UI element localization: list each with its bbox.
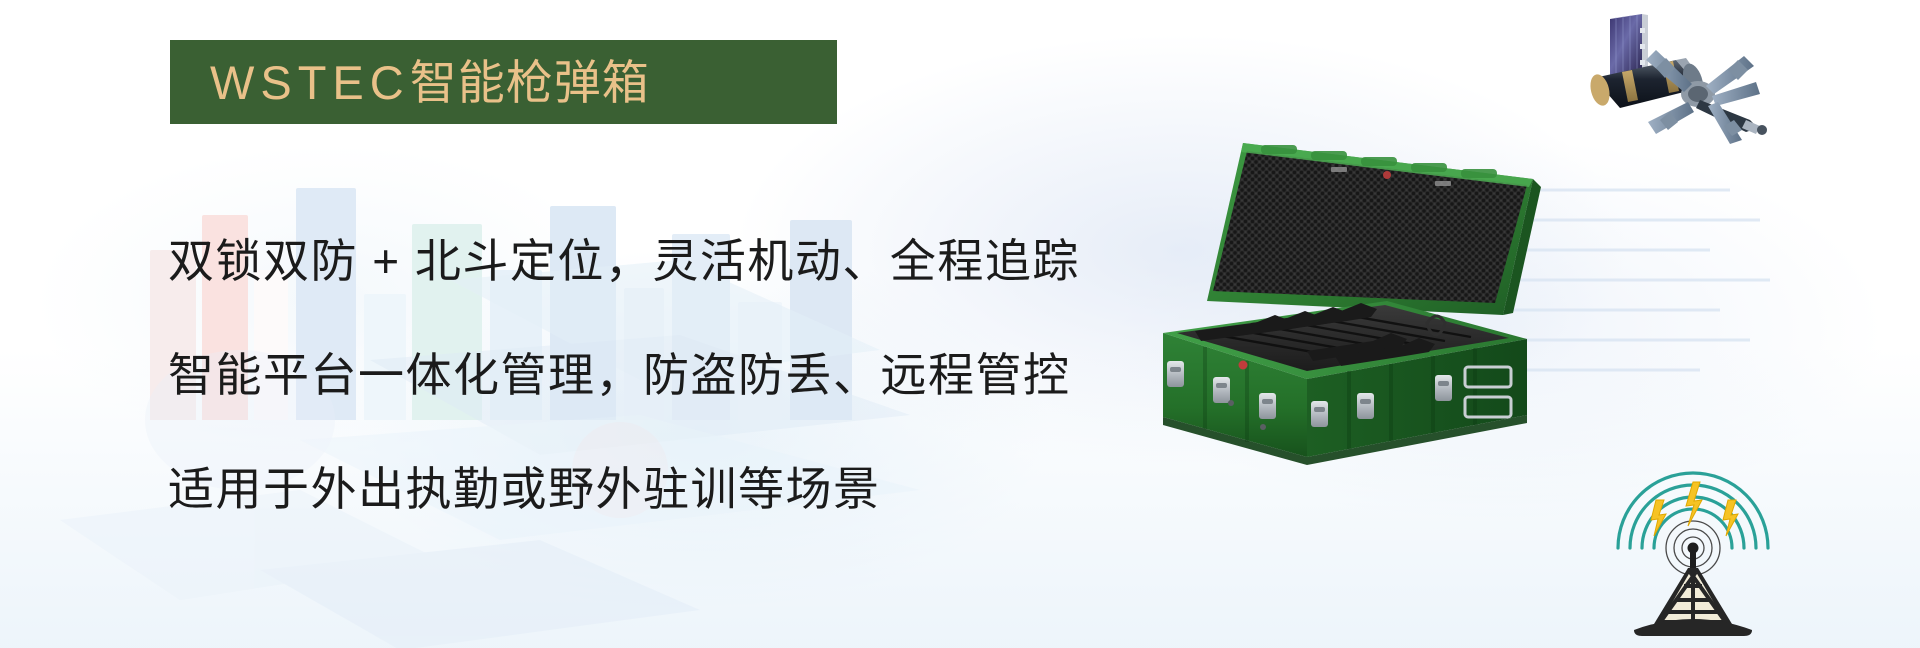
feature-list: 双锁双防 + 北斗定位，灵活机动、全程追踪 智能平台一体化管理，防盗防丢、远程管… xyxy=(168,225,1080,519)
title-banner: WSTEC智能枪弹箱 xyxy=(170,40,837,124)
case-body xyxy=(1163,301,1527,465)
title-cn: 智能枪弹箱 xyxy=(410,56,650,109)
tower-mast xyxy=(1634,548,1752,636)
feature-line-1: 双锁双防 + 北斗定位，灵活机动、全程追踪 xyxy=(168,225,1080,291)
feature-line-2: 智能平台一体化管理，防盗防丢、远程管控 xyxy=(168,339,1080,405)
product-image-ammo-case xyxy=(1135,125,1565,470)
promo-banner: WSTEC智能枪弹箱 双锁双防 + 北斗定位，灵活机动、全程追踪 智能平台一体化… xyxy=(0,0,1920,648)
radio-tower-icon xyxy=(1600,430,1785,645)
page-title: WSTEC智能枪弹箱 xyxy=(210,59,650,106)
feature-line-3: 适用于外出执勤或野外驻训等场景 xyxy=(168,453,1080,519)
satellite-icon xyxy=(1580,2,1800,167)
case-lid xyxy=(1205,143,1545,315)
solar-panel xyxy=(1610,14,1648,76)
brand-name: WSTEC xyxy=(210,56,410,109)
